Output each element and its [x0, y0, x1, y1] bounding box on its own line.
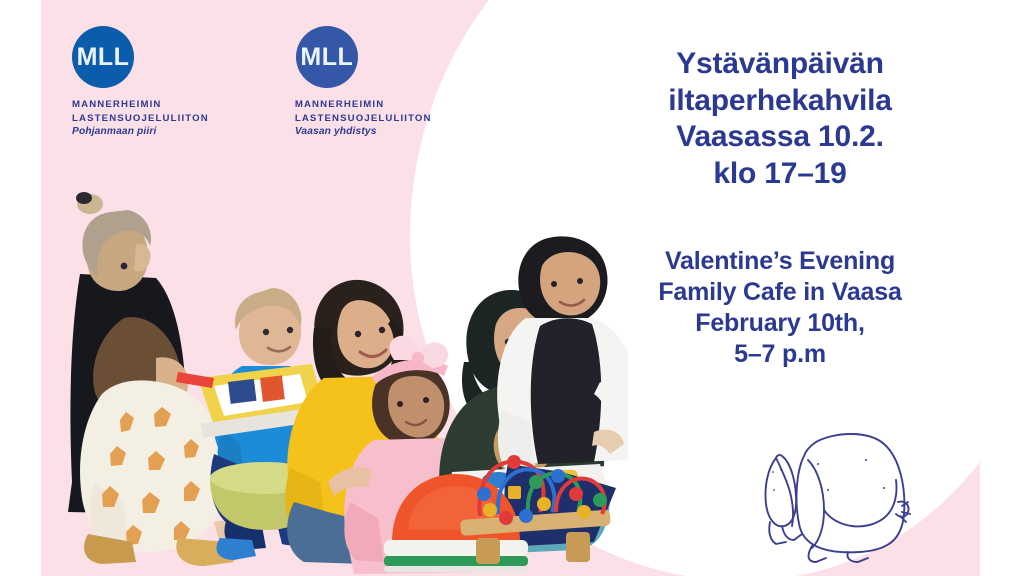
logo-district-name: Vaasan yhdistys	[295, 126, 432, 137]
doodle-small-eye-left	[772, 471, 774, 473]
logo-org-name: MANNERHEIMIN LASTENSUOJELULIITON	[295, 98, 432, 125]
headline-fi-line4: klo 17–19	[590, 156, 970, 193]
doodle-large-nose	[827, 489, 829, 491]
mll-logo-mark-icon: MLL	[72, 26, 134, 88]
white-right-margin	[980, 0, 1024, 576]
doodle-large-inner-left	[808, 460, 824, 548]
logo-org-name: MANNERHEIMIN LASTENSUOJELULIITON	[72, 98, 209, 125]
headline-en-line4: 5–7 p.m	[590, 339, 970, 370]
headline-en-line2: Family Cafe in Vaasa	[590, 277, 970, 308]
doodle-small-body	[765, 455, 796, 526]
doodle-large-body	[797, 434, 905, 552]
doodle-large-leg-right	[847, 552, 868, 562]
logo-org-line2: LASTENSUOJELULIITON	[72, 112, 209, 126]
logo-district-name: Pohjanmaan piiri	[72, 126, 209, 137]
logo-row: MLL MANNERHEIMIN LASTENSUOJELULIITON Poh…	[72, 26, 432, 137]
logo-org-line1: MANNERHEIMIN	[72, 98, 209, 112]
doodle-svg	[750, 414, 940, 564]
doodle-large-eye-right	[865, 459, 867, 461]
mll-logo-mark-icon: MLL	[296, 26, 358, 88]
logo-org-line1: MANNERHEIMIN	[295, 98, 432, 112]
headline-fi-line3: Vaasassa 10.2.	[590, 119, 970, 156]
doodle-large-inner-bottom	[824, 480, 897, 526]
headline-en-line3: February 10th,	[590, 308, 970, 339]
headline-block: Ystävänpäivän iltaperhekahvila Vaasassa …	[590, 46, 970, 370]
logo-mll-pohjanmaa: MLL MANNERHEIMIN LASTENSUOJELULIITON Poh…	[72, 26, 209, 137]
poster-canvas: MLL MANNERHEIMIN LASTENSUOJELULIITON Poh…	[0, 0, 1024, 576]
headline-en-line1: Valentine’s Evening	[590, 246, 970, 277]
hand-drawn-figures-doodle	[750, 414, 940, 564]
logo-org-line2: LASTENSUOJELULIITON	[295, 112, 432, 126]
doodle-large-cheek	[883, 487, 885, 489]
headline-english: Valentine’s Evening Family Cafe in Vaasa…	[590, 246, 970, 370]
headline-finnish: Ystävänpäivän iltaperhekahvila Vaasassa …	[590, 46, 970, 192]
headline-fi-line1: Ystävänpäivän	[590, 46, 970, 83]
doodle-small-eye-right	[780, 469, 782, 471]
doodle-small-nose	[773, 489, 775, 491]
doodle-small-leg-right	[782, 526, 802, 540]
logo-mll-vaasa: MLL MANNERHEIMIN LASTENSUOJELULIITON Vaa…	[295, 26, 432, 137]
family-cafe-photo	[28, 182, 628, 576]
family-cafe-photo-svg	[28, 182, 628, 576]
boy-white-shirt-vest	[497, 236, 628, 546]
headline-fi-line2: iltaperhekahvila	[590, 83, 970, 120]
doodle-large-eye-left	[817, 463, 819, 465]
